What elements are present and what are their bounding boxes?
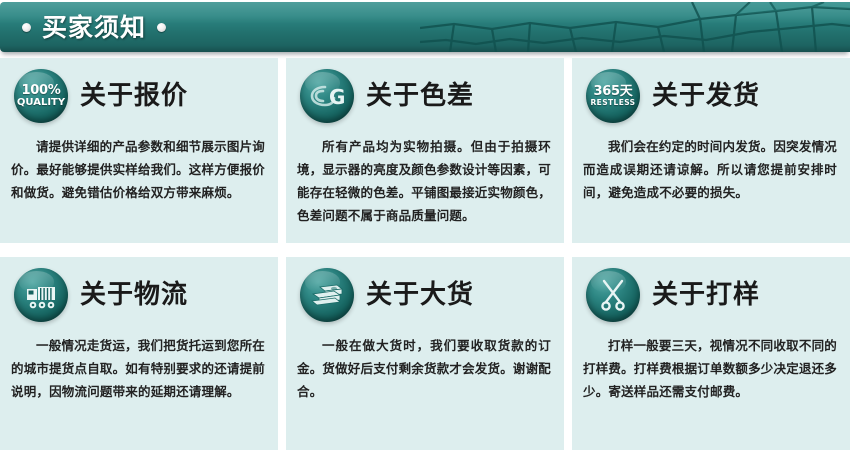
page-title: 买家须知 [42, 15, 146, 40]
card-body-text: 一般在做大货时，我们要收取货款的订金。货做好后支付剩余货款才会发货。谢谢配合。 [297, 334, 551, 403]
notice-card-sample: 关于打样 打样一般要三天，视情况不同收取不同的打样费。打样费根据订单数额多少决定… [572, 257, 850, 450]
bullet-dot-left-icon [22, 23, 31, 32]
card-title: 关于大货 [366, 282, 474, 308]
bullet-dot-right-icon [157, 23, 166, 32]
card-title: 关于色差 [366, 83, 474, 109]
banner-title-group: 买家须知 [22, 2, 166, 52]
svg-text:G: G [329, 85, 345, 109]
card-title: 关于发货 [652, 83, 760, 109]
card-body-text: 所有产品均为实物拍摄。但由于拍摄环境，显示器的亮度及颜色参数设计等因素，可能存在… [297, 135, 551, 228]
buyer-notice-page: 买家须知 100% QUALITY 关于报价 请提供详细的产品参数和细节展示图片… [0, 0, 850, 450]
card-header: 365天 RESTLESS 关于发货 [572, 58, 850, 123]
quality-badge-text: 100% QUALITY [17, 84, 65, 108]
card-body-text: 请提供详细的产品参数和细节展示图片询价。最好能够提供实样给我们。这样方便报价和做… [11, 135, 265, 204]
card-body-text: 打样一般要三天，视情况不同收取不同的打样费。打样费根据订单数额多少决定退还多少。… [583, 334, 837, 403]
scissors-glyph [593, 275, 633, 315]
notice-card-bulk: 关于大货 一般在做大货时，我们要收取货款的订金。货做好后支付剩余货款才会发货。谢… [286, 257, 564, 450]
card-title: 关于物流 [80, 282, 188, 308]
truck-icon [14, 268, 68, 322]
fabric-bales-glyph [307, 275, 347, 315]
days-badge-text: 365天 RESTLESS [591, 85, 636, 107]
cracked-mosaic-texture [420, 2, 850, 52]
notice-card-shipping: 365天 RESTLESS 关于发货 我们会在约定的时间内发货。因突发情况而造成… [572, 58, 850, 243]
calendar-365-icon: 365天 RESTLESS [586, 69, 640, 123]
page-header-banner: 买家须知 [0, 2, 850, 52]
card-header: G 关于色差 [286, 58, 564, 123]
notice-card-quote: 100% QUALITY 关于报价 请提供详细的产品参数和细节展示图片询价。最好… [0, 58, 278, 243]
truck-glyph [21, 275, 61, 315]
notice-card-logistics: 关于物流 一般情况走货运，我们把货托运到您所在的城市提货点自取。如有特别要求的还… [0, 257, 278, 450]
card-header: 关于物流 [0, 257, 278, 322]
card-title: 关于报价 [80, 83, 188, 109]
card-header: 关于打样 [572, 257, 850, 322]
color-swirl-glyph: G [307, 76, 347, 116]
card-title: 关于打样 [652, 282, 760, 308]
notice-card-grid: 100% QUALITY 关于报价 请提供详细的产品参数和细节展示图片询价。最好… [0, 58, 850, 450]
card-body-text: 我们会在约定的时间内发货。因突发情况而造成误期还请谅解。所以请您提前安排时间，避… [583, 135, 837, 204]
scissors-icon [586, 268, 640, 322]
card-header: 100% QUALITY 关于报价 [0, 58, 278, 123]
quality-badge-icon: 100% QUALITY [14, 69, 68, 123]
fabric-bales-icon [300, 268, 354, 322]
card-header: 关于大货 [286, 257, 564, 322]
card-body-text: 一般情况走货运，我们把货托运到您所在的城市提货点自取。如有特别要求的还请提前说明… [11, 334, 265, 403]
notice-card-color: G 关于色差 所有产品均为实物拍摄。但由于拍摄环境，显示器的亮度及颜色参数设计等… [286, 58, 564, 243]
color-swirl-icon: G [300, 69, 354, 123]
